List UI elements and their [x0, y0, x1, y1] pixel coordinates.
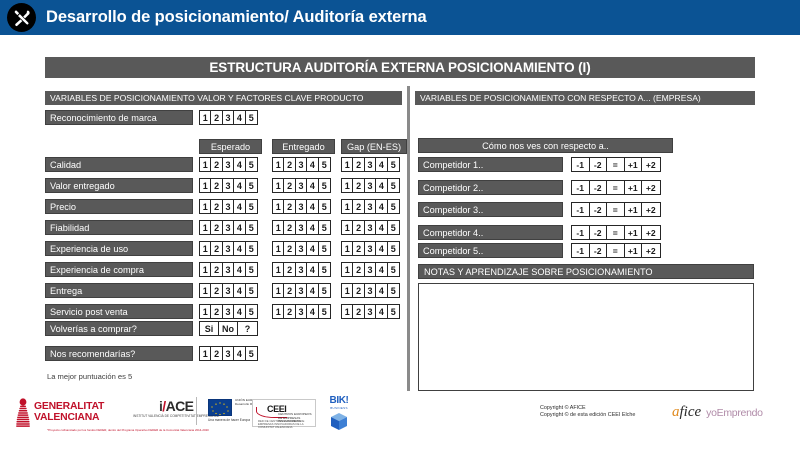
scale-cell[interactable]: 2 — [211, 284, 222, 297]
scale-cell[interactable]: -1 — [572, 226, 590, 239]
scale-cell[interactable]: 1 — [342, 200, 353, 213]
notes-textarea[interactable] — [418, 283, 754, 391]
scale-cell[interactable]: 1 — [273, 242, 284, 255]
scale-cell[interactable]: 2 — [353, 200, 364, 213]
scale-cell[interactable]: 1 — [273, 221, 284, 234]
scale-cell[interactable]: 2 — [353, 305, 364, 318]
scale-cell[interactable]: 5 — [246, 200, 257, 213]
scale-cell[interactable]: +2 — [642, 181, 660, 194]
scale-cell[interactable]: 3 — [296, 263, 307, 276]
eu-caption: Una manera de hacer Europa — [208, 418, 250, 422]
scale-cell[interactable]: = — [607, 158, 625, 171]
logo-ivace: i/ACE INSTITUT VALENCIÀ DE COMPETITIVITA… — [133, 399, 219, 419]
scale-entrega-col1[interactable]: 12345 — [199, 283, 258, 298]
scale-calidad-col3[interactable]: 12345 — [341, 157, 400, 172]
footnote-best-score: La mejor puntuación es 5 — [47, 372, 132, 381]
scale-cell[interactable]: = — [607, 226, 625, 239]
scale-cell[interactable]: 4 — [376, 263, 387, 276]
scale-cell[interactable]: 2 — [284, 263, 295, 276]
scale-cell[interactable]: 2 — [211, 179, 222, 192]
scale-cell[interactable]: 5 — [319, 263, 330, 276]
footer-disclaimer: *Proyecto cofinanciado por los fondos FE… — [38, 429, 218, 433]
scale-servicio-post-venta-col3[interactable]: 12345 — [341, 304, 400, 319]
scale-cell[interactable]: +1 — [625, 226, 643, 239]
row-label-valor-entregado: Valor entregado — [45, 178, 193, 193]
ceei-network-text: RED DE CENTROS EUROPEOS DE EMPRESAS INNO… — [258, 420, 315, 430]
scale-cell[interactable]: 2 — [284, 158, 295, 171]
scale-precio-col1[interactable]: 12345 — [199, 199, 258, 214]
scale-cell[interactable]: = — [607, 244, 625, 257]
scale-calidad-col1[interactable]: 12345 — [199, 157, 258, 172]
scale-cell[interactable]: 5 — [319, 158, 330, 171]
scale-cell[interactable]: 3 — [223, 221, 234, 234]
scale-experiencia-de-uso-col1[interactable]: 12345 — [199, 241, 258, 256]
scale-cell[interactable]: 3 — [296, 158, 307, 171]
scale-cell[interactable]: 1 — [200, 305, 211, 318]
scale-cell[interactable]: = — [607, 203, 625, 216]
scale-cell[interactable]: 1 — [342, 284, 353, 297]
scale-cell[interactable]: 4 — [376, 221, 387, 234]
scale-cell[interactable]: 5 — [246, 221, 257, 234]
scale-cell[interactable]: 1 — [200, 263, 211, 276]
copyright-line-1: Copyright © AFICE — [540, 405, 635, 412]
scale-valor-entregado-col1[interactable]: 12345 — [199, 178, 258, 193]
slide-main-title: ESTRUCTURA AUDITORÍA EXTERNA POSICIONAMI… — [45, 57, 755, 78]
scale-cell[interactable]: 5 — [246, 111, 257, 124]
scale-cell[interactable]: 2 — [211, 305, 222, 318]
scale-cell[interactable]: 3 — [223, 305, 234, 318]
scale-cell[interactable]: 3 — [365, 305, 376, 318]
scale-experiencia-de-uso-col2[interactable]: 12345 — [272, 241, 331, 256]
row-label-servicio-post-venta: Servicio post venta — [45, 304, 193, 319]
scale-cell[interactable]: -1 — [572, 158, 590, 171]
scale-experiencia-de-compra-col1[interactable]: 12345 — [199, 262, 258, 277]
scale-cell[interactable]: 3 — [365, 200, 376, 213]
scale-cell[interactable]: +1 — [625, 181, 643, 194]
competitor-scale-5[interactable]: -1-2=+1+2 — [571, 243, 661, 258]
tools-circle-icon — [7, 3, 36, 32]
scale-cell[interactable]: 4 — [376, 242, 387, 255]
generalitat-wordmark: GENERALITAT VALENCIANA — [34, 402, 104, 423]
scale-cell[interactable]: 4 — [307, 284, 318, 297]
scale-cell[interactable]: 3 — [296, 242, 307, 255]
scale-experiencia-de-compra-col3[interactable]: 12345 — [341, 262, 400, 277]
scale-cell[interactable]: 1 — [200, 200, 211, 213]
scale-cell[interactable]: 5 — [388, 179, 399, 192]
panel-divider — [407, 86, 410, 391]
scale-nos-recomendarias[interactable]: 1 2 3 4 5 — [199, 346, 258, 361]
scale-cell[interactable]: 4 — [234, 200, 245, 213]
scale-fiabilidad-col3[interactable]: 12345 — [341, 220, 400, 235]
footer: GENERALITAT VALENCIANA i/ACE INSTITUT VA… — [0, 393, 800, 450]
scale-cell[interactable]: 3 — [365, 158, 376, 171]
scale-cell[interactable]: 3 — [223, 263, 234, 276]
scale-valor-entregado-col3[interactable]: 12345 — [341, 178, 400, 193]
scale-cell[interactable]: 3 — [296, 200, 307, 213]
scale-cell[interactable]: 1 — [200, 284, 211, 297]
scale-cell[interactable]: 1 — [273, 179, 284, 192]
scale-cell[interactable]: 5 — [246, 347, 257, 360]
scale-cell[interactable]: +1 — [625, 244, 643, 257]
scale-cell[interactable]: 5 — [246, 158, 257, 171]
scale-cell[interactable]: 5 — [246, 242, 257, 255]
scale-cell[interactable]: 5 — [388, 158, 399, 171]
scale-cell-si[interactable]: Si — [200, 322, 219, 335]
scale-calidad-col2[interactable]: 12345 — [272, 157, 331, 172]
scale-cell[interactable]: 3 — [223, 158, 234, 171]
row-label-entrega: Entrega — [45, 283, 193, 298]
scale-cell[interactable]: 4 — [234, 158, 245, 171]
scale-cell[interactable]: 2 — [284, 221, 295, 234]
scale-cell[interactable]: 3 — [223, 242, 234, 255]
scale-cell[interactable]: 4 — [234, 111, 245, 124]
scale-cell[interactable]: 5 — [388, 221, 399, 234]
scale-cell[interactable]: 1 — [342, 305, 353, 318]
scale-cell[interactable]: 3 — [296, 179, 307, 192]
scale-cell[interactable]: 4 — [376, 200, 387, 213]
scale-cell[interactable]: 3 — [365, 263, 376, 276]
generalitat-line2: VALENCIANA — [34, 413, 104, 424]
row-label-experiencia-de-uso: Experiencia de uso — [45, 241, 193, 256]
scale-cell[interactable]: 4 — [376, 179, 387, 192]
scale-cell[interactable]: 1 — [200, 158, 211, 171]
scale-cell[interactable]: 4 — [307, 305, 318, 318]
scale-cell[interactable]: 5 — [388, 200, 399, 213]
logo-generalitat-valenciana: GENERALITAT VALENCIANA — [16, 398, 104, 428]
scale-cell[interactable]: 3 — [296, 305, 307, 318]
scale-cell[interactable]: 2 — [211, 111, 222, 124]
section-header-left: VARIABLES DE POSICIONAMIENTO VALOR Y FAC… — [45, 91, 402, 105]
ivace-subtitle: INSTITUT VALENCIÀ DE COMPETITIVITAT EMPR… — [133, 415, 219, 419]
scale-cell[interactable]: 2 — [211, 158, 222, 171]
scale-cell[interactable]: 5 — [319, 242, 330, 255]
eu-flag-icon — [208, 399, 232, 416]
scale-cell[interactable]: 1 — [200, 179, 211, 192]
scale-cell[interactable]: -2 — [590, 181, 608, 194]
bik-subtitle: BUSINESS — [322, 406, 356, 410]
scale-cell[interactable]: 4 — [234, 305, 245, 318]
afice-wordmark: fice — [680, 405, 702, 420]
scale-cell[interactable]: 3 — [223, 111, 234, 124]
notes-section-header: NOTAS Y APRENDIZAJE SOBRE POSICIONAMIENT… — [418, 264, 754, 279]
scale-cell[interactable]: 4 — [307, 242, 318, 255]
scale-fiabilidad-col1[interactable]: 12345 — [199, 220, 258, 235]
scale-cell[interactable]: 5 — [388, 284, 399, 297]
scale-cell[interactable]: 5 — [246, 179, 257, 192]
scale-cell[interactable]: = — [607, 181, 625, 194]
blue-cube-icon — [330, 412, 348, 431]
competitor-scale-1[interactable]: -1-2=+1+2 — [571, 157, 661, 172]
scale-cell[interactable]: +2 — [642, 244, 660, 257]
logo-bik: BIK! BUSINESS — [322, 396, 356, 431]
logo-ceei: CEEI CENTROS EUROPEOS DE EMPRESAS INNOVA… — [252, 399, 316, 427]
ivace-letters-ace: ACE — [166, 398, 194, 414]
competitor-label-4: Competidor 4.. — [418, 225, 563, 240]
scale-cell[interactable]: 4 — [307, 263, 318, 276]
row-label-precio: Precio — [45, 199, 193, 214]
scale-cell[interactable]: 1 — [273, 200, 284, 213]
scale-cell[interactable]: 5 — [388, 242, 399, 255]
row-label-reconocimiento-de-marca: Reconocimiento de marca — [45, 110, 193, 125]
right-panel-header: Cómo nos ves con respecto a.. — [418, 138, 673, 153]
scale-cell[interactable]: 4 — [376, 305, 387, 318]
scale-cell[interactable]: 2 — [211, 347, 222, 360]
scale-cell[interactable]: 2 — [211, 242, 222, 255]
scale-cell[interactable]: 3 — [223, 179, 234, 192]
scale-cell[interactable]: 4 — [307, 179, 318, 192]
scale-cell[interactable]: 4 — [307, 200, 318, 213]
scale-cell[interactable]: 2 — [353, 284, 364, 297]
scale-cell[interactable]: 3 — [296, 221, 307, 234]
section-header-right: VARIABLES DE POSICIONAMIENTO CON RESPECT… — [415, 91, 755, 105]
scale-cell[interactable]: 3 — [365, 221, 376, 234]
scale-cell[interactable]: 5 — [388, 263, 399, 276]
scale-cell-no[interactable]: No — [219, 322, 238, 335]
copyright-line-2: Copyright © de esta edición CEEI Elche — [540, 412, 635, 419]
scale-cell[interactable]: 1 — [342, 242, 353, 255]
scale-precio-col3[interactable]: 12345 — [341, 199, 400, 214]
scale-cell[interactable]: -2 — [590, 158, 608, 171]
logo-afice-yoemprendo: afice yoEmprendo — [672, 405, 763, 420]
scale-cell[interactable]: 3 — [223, 284, 234, 297]
scale-cell[interactable]: 1 — [342, 263, 353, 276]
scale-cell[interactable]: 2 — [284, 242, 295, 255]
scale-cell[interactable]: 1 — [273, 305, 284, 318]
scale-cell[interactable]: -2 — [590, 226, 608, 239]
scale-cell[interactable]: 2 — [284, 179, 295, 192]
scale-cell[interactable]: 4 — [307, 158, 318, 171]
row-label-fiabilidad: Fiabilidad — [45, 220, 193, 235]
scale-cell[interactable]: 5 — [319, 284, 330, 297]
scale-cell[interactable]: 1 — [342, 179, 353, 192]
column-header-gap: Gap (EN-ES) — [341, 139, 407, 154]
scale-cell[interactable]: 4 — [234, 284, 245, 297]
scale-cell[interactable]: +1 — [625, 158, 643, 171]
column-header-entregado: Entregado — [272, 139, 335, 154]
scale-cell[interactable]: 5 — [246, 263, 257, 276]
scale-cell[interactable]: 4 — [376, 284, 387, 297]
scale-servicio-post-venta-col2[interactable]: 12345 — [272, 304, 331, 319]
row-label-experiencia-de-compra: Experiencia de compra — [45, 262, 193, 277]
scale-cell[interactable]: 5 — [319, 179, 330, 192]
copyright-block: Copyright © AFICE Copyright © de esta ed… — [540, 405, 635, 419]
scale-cell[interactable]: 3 — [365, 284, 376, 297]
scale-experiencia-de-compra-col2[interactable]: 12345 — [272, 262, 331, 277]
scale-cell[interactable]: 5 — [319, 305, 330, 318]
bik-wordmark: BIK! — [322, 396, 356, 406]
scale-cell[interactable]: 2 — [284, 284, 295, 297]
competitor-label-5: Competidor 5.. — [418, 243, 563, 258]
competitor-label-1: Competidor 1.. — [418, 157, 563, 172]
scale-cell[interactable]: 3 — [223, 200, 234, 213]
scale-servicio-post-venta-col1[interactable]: 12345 — [199, 304, 258, 319]
scale-cell[interactable]: 2 — [284, 305, 295, 318]
yoemprendo-wordmark: yoEmprendo — [706, 407, 763, 419]
scale-cell[interactable]: 1 — [273, 284, 284, 297]
scale-entrega-col3[interactable]: 12345 — [341, 283, 400, 298]
scale-cell[interactable]: +2 — [642, 203, 660, 216]
scale-cell[interactable]: 4 — [376, 158, 387, 171]
scale-cell[interactable]: 2 — [211, 263, 222, 276]
scale-cell[interactable]: +2 — [642, 158, 660, 171]
scale-cell[interactable]: +2 — [642, 226, 660, 239]
scale-reconocimiento-de-marca[interactable]: 1 2 3 4 5 — [199, 110, 258, 125]
row-label-nos-recomendarias: Nos recomendarías? — [45, 346, 193, 361]
scale-cell[interactable]: -2 — [590, 203, 608, 216]
scale-experiencia-de-uso-col3[interactable]: 12345 — [341, 241, 400, 256]
competitor-label-3: Competidor 3.. — [418, 202, 563, 217]
scale-cell[interactable]: 2 — [211, 200, 222, 213]
scale-cell[interactable]: 2 — [211, 221, 222, 234]
afice-letter-a: a — [672, 405, 680, 420]
scale-precio-col2[interactable]: 12345 — [272, 199, 331, 214]
scale-cell[interactable]: 2 — [353, 263, 364, 276]
generalitat-crest-icon — [16, 398, 30, 428]
column-header-esperado: Esperado — [199, 139, 262, 154]
scale-cell[interactable]: 4 — [307, 221, 318, 234]
competitor-scale-4[interactable]: -1-2=+1+2 — [571, 225, 661, 240]
scale-cell[interactable]: 4 — [234, 263, 245, 276]
scale-cell[interactable]: 5 — [319, 200, 330, 213]
scale-cell[interactable]: 3 — [296, 284, 307, 297]
scale-cell[interactable]: 3 — [223, 347, 234, 360]
scale-cell[interactable]: +1 — [625, 203, 643, 216]
scale-cell[interactable]: -1 — [572, 244, 590, 257]
scale-cell[interactable]: 5 — [388, 305, 399, 318]
page-title: Desarrollo de posicionamiento/ Auditoría… — [46, 0, 427, 35]
competitor-scale-2[interactable]: -1-2=+1+2 — [571, 180, 661, 195]
scale-cell[interactable]: -1 — [572, 181, 590, 194]
scale-cell[interactable]: 2 — [353, 158, 364, 171]
scale-cell[interactable]: 2 — [353, 179, 364, 192]
scale-fiabilidad-col2[interactable]: 12345 — [272, 220, 331, 235]
ivace-wordmark: i/ACE — [133, 399, 219, 413]
footer-divider — [196, 397, 197, 425]
scale-cell[interactable]: 1 — [200, 111, 211, 124]
scale-cell[interactable]: 1 — [342, 158, 353, 171]
row-label-calidad: Calidad — [45, 157, 193, 172]
scale-entrega-col2[interactable]: 12345 — [272, 283, 331, 298]
scale-cell[interactable]: 1 — [200, 347, 211, 360]
scale-cell[interactable]: 5 — [246, 284, 257, 297]
scale-cell[interactable]: 1 — [273, 263, 284, 276]
scale-cell[interactable]: 1 — [200, 221, 211, 234]
scale-cell[interactable]: 3 — [365, 242, 376, 255]
scale-cell[interactable]: 4 — [234, 242, 245, 255]
scale-valor-entregado-col2[interactable]: 12345 — [272, 178, 331, 193]
scale-cell[interactable]: 5 — [246, 305, 257, 318]
scale-volverias-a-comprar[interactable]: Si No ? — [199, 321, 258, 336]
scale-cell[interactable]: 1 — [200, 242, 211, 255]
scale-cell[interactable]: -2 — [590, 244, 608, 257]
competitor-label-2: Competidor 2.. — [418, 180, 563, 195]
app-header-bar: Desarrollo de posicionamiento/ Auditoría… — [0, 0, 800, 35]
scale-cell[interactable]: 4 — [234, 347, 245, 360]
scale-cell[interactable]: 4 — [234, 221, 245, 234]
scale-cell[interactable]: -1 — [572, 203, 590, 216]
scale-cell[interactable]: 4 — [234, 179, 245, 192]
scale-cell[interactable]: 5 — [319, 221, 330, 234]
scale-cell-unknown[interactable]: ? — [238, 322, 257, 335]
scale-cell[interactable]: 2 — [284, 200, 295, 213]
scale-cell[interactable]: 2 — [353, 242, 364, 255]
scale-cell[interactable]: 2 — [353, 221, 364, 234]
scale-cell[interactable]: 3 — [365, 179, 376, 192]
scale-cell[interactable]: 1 — [342, 221, 353, 234]
row-label-volverias-a-comprar: Volverías a comprar? — [45, 321, 193, 336]
scale-cell[interactable]: 1 — [273, 158, 284, 171]
competitor-scale-3[interactable]: -1-2=+1+2 — [571, 202, 661, 217]
